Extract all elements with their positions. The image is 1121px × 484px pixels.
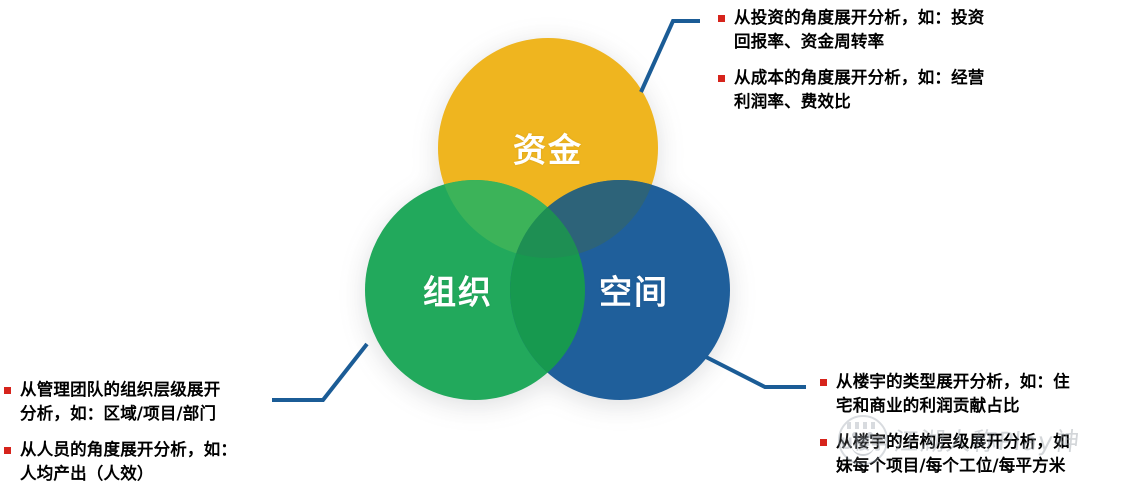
bullet-text: 从楼宇的类型展开分析，如：住 宅和商业的利润贡献占比	[836, 370, 1070, 418]
bullet-text: 从楼宇的结构层级展开分析，如 妹每个项目/每个工位/每平方米	[836, 430, 1070, 478]
bullet-item: 从楼宇的类型展开分析，如：住 宅和商业的利润贡献占比	[820, 370, 1120, 418]
callout-space: 从楼宇的类型展开分析，如：住 宅和商业的利润贡献占比 从楼宇的结构层级展开分析，…	[820, 370, 1120, 478]
bullet-item: 从人员的角度展开分析，如： 人均产出（人效）	[4, 438, 289, 484]
bullet-item: 从楼宇的结构层级展开分析，如 妹每个项目/每个工位/每平方米	[820, 430, 1120, 478]
bullet-item: 从投资的角度展开分析，如：投资 回报率、资金周转率	[718, 6, 1048, 54]
square-bullet-icon	[718, 15, 725, 22]
square-bullet-icon	[4, 447, 11, 454]
callout-capital: 从投资的角度展开分析，如：投资 回报率、资金周转率 从成本的角度展开分析，如：经…	[718, 6, 1048, 114]
connector-space	[706, 357, 806, 387]
square-bullet-icon	[718, 75, 725, 82]
bullet-text: 从管理团队的组织层级展开 分析，如：区域/项目/部门	[20, 378, 220, 426]
square-bullet-icon	[820, 379, 827, 386]
bullet-item: 从管理团队的组织层级展开 分析，如：区域/项目/部门	[4, 378, 289, 426]
bullet-text: 从成本的角度展开分析，如：经营 利润率、费效比	[734, 66, 985, 114]
square-bullet-icon	[4, 387, 11, 394]
bullet-text: 从投资的角度展开分析，如：投资 回报率、资金周转率	[734, 6, 985, 54]
connector-capital	[641, 21, 700, 92]
bullet-item: 从成本的角度展开分析，如：经营 利润率、费效比	[718, 66, 1048, 114]
slide-canvas: 资金 组织 空间 从投资的角度展开分析，如：投资 回报率、资金周转率 从成本的角…	[0, 0, 1121, 484]
square-bullet-icon	[820, 439, 827, 446]
bullet-text: 从人员的角度展开分析，如： 人均产出（人效）	[20, 438, 237, 484]
callout-organization: 从管理团队的组织层级展开 分析，如：区域/项目/部门 从人员的角度展开分析，如：…	[4, 378, 289, 484]
